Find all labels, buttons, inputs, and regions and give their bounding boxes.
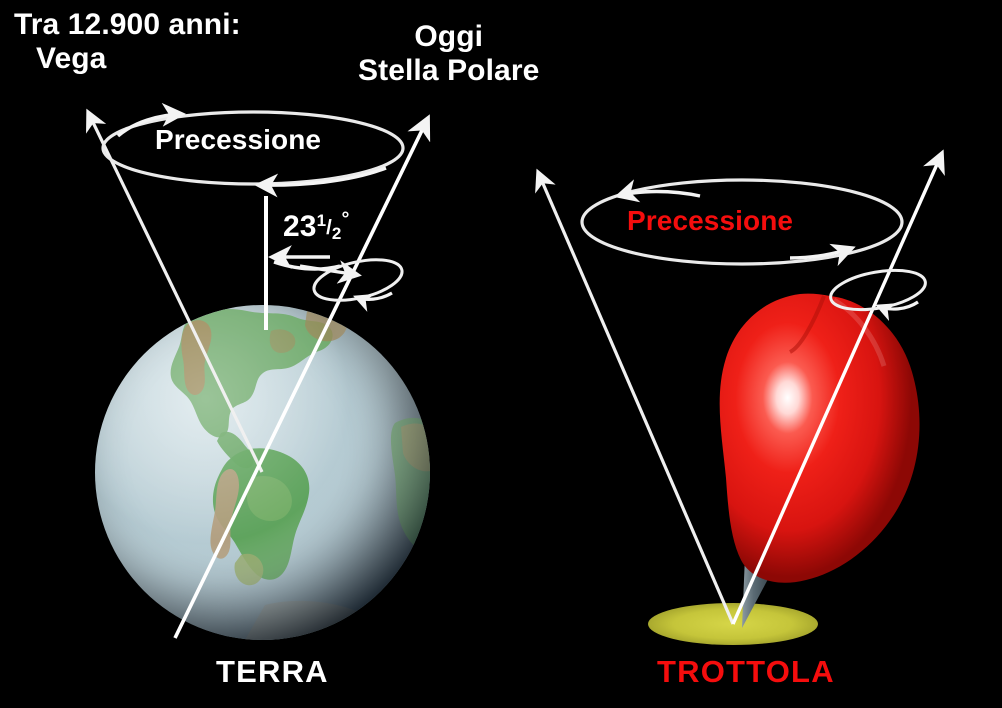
tilt-fraction: 1/2 [317,211,342,243]
figure-canvas: Tra 12.900 anni: Vega Oggi Stella Polare… [0,0,1002,708]
degree-symbol: ° [341,208,349,230]
earth-rotation-axis [175,118,428,638]
precession-diagram-lines [0,0,1002,708]
label-precession-trottola: Precessione [627,205,793,236]
tilt-numerator: 1 [317,211,327,230]
precession-arrow-right-lower [790,248,852,258]
label-current-pole-star-line2: Stella Polare [358,54,539,88]
label-precession-earth: Precessione [155,124,321,155]
trottola-spin-rotation-icon [828,264,929,316]
tilt-whole-number: 23 [283,210,317,243]
label-axial-tilt-angle: 231/2° [283,208,349,243]
caption-terra: TERRA [216,655,329,690]
label-current-pole-star-line1: Oggi [358,20,539,54]
label-current-pole-star: Oggi Stella Polare [358,20,539,87]
precession-arrow-right-upper [618,192,700,197]
label-future-pole-star-line2: Vega [14,42,241,76]
label-future-pole-star-line1: Tra 12.900 anni: [14,8,241,41]
precession-cone-left-edge [538,172,733,624]
caption-trottola: TROTTOLA [657,655,835,690]
label-future-pole-star: Tra 12.900 anni: Vega [14,8,241,75]
axis-to-vega [88,112,262,472]
earth-daily-rotation-icon [310,252,406,307]
